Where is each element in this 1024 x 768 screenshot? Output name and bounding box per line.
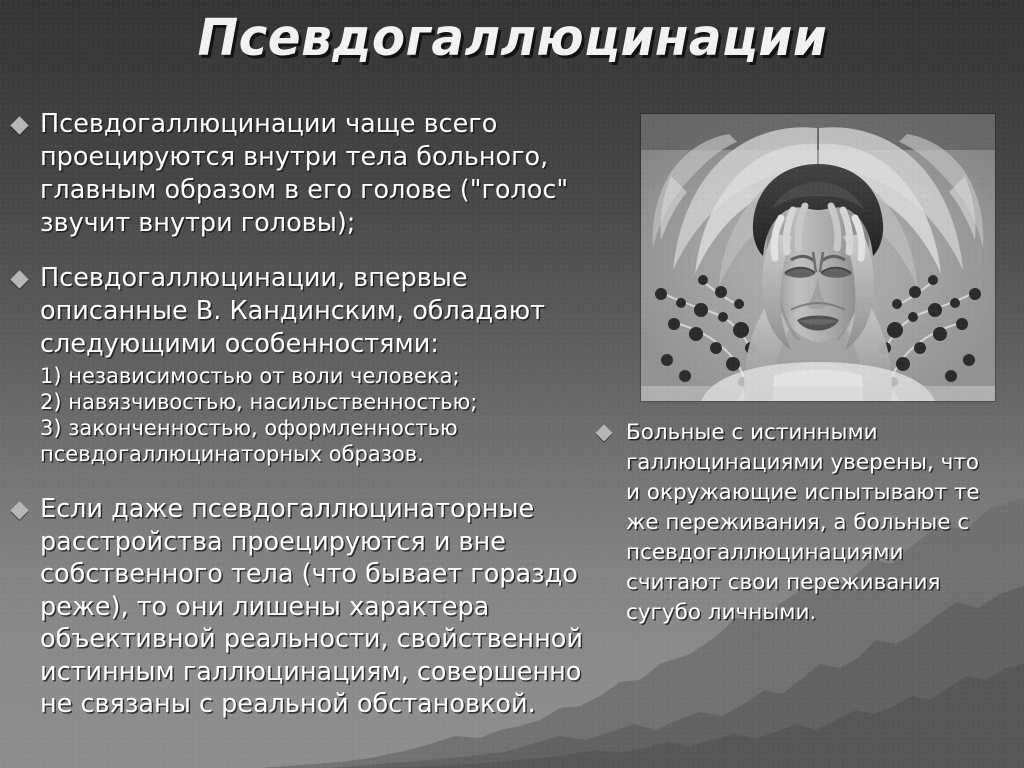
numbered-item-3: 3) законченностью, оформленностью bbox=[40, 415, 612, 441]
bullet-item-1-text: Псевдогаллюцинации чаще всего проецируют… bbox=[40, 108, 612, 240]
diamond-bullet-icon bbox=[10, 270, 28, 288]
numbered-item-2: 2) навязчивостью, насильственностью; bbox=[40, 389, 612, 415]
bullet-item-2: Псевдогаллюцинации, впервые описанные В.… bbox=[0, 262, 612, 361]
diamond-bullet-icon bbox=[10, 116, 28, 134]
diamond-bullet-icon bbox=[596, 425, 613, 442]
diamond-bullet-icon bbox=[10, 501, 28, 519]
page-title: Псевдогаллюцинации bbox=[197, 6, 827, 72]
bullet-item-3-text: Если даже псевдогаллюцинаторные расстрой… bbox=[40, 493, 612, 721]
presentation-slide: Псевдогаллюцинации Псевдогаллюцинации ча… bbox=[0, 0, 1024, 768]
bullet-item-2-text: Псевдогаллюцинации, впервые описанные В.… bbox=[40, 262, 612, 361]
left-content-column: Псевдогаллюцинации чаще всего проецируют… bbox=[0, 108, 612, 737]
right-content-column: Больные с истинными галлюцинациями увере… bbox=[592, 418, 1012, 628]
bullet-item-3: Если даже псевдогаллюцинаторные расстрой… bbox=[0, 493, 612, 721]
slide-title-bar: Псевдогаллюцинации bbox=[0, 6, 1024, 72]
illustration-distressed-man bbox=[641, 114, 995, 401]
numbered-item-1: 1) независимостью от воли человека; bbox=[40, 363, 612, 389]
illustration-graphic bbox=[641, 114, 995, 401]
bullet-item-1: Псевдогаллюцинации чаще всего проецируют… bbox=[0, 108, 612, 240]
numbered-item-4: псевдогаллюцинаторных образов. bbox=[40, 441, 612, 467]
numbered-sub-list: 1) независимостью от воли человека; 2) н… bbox=[40, 363, 612, 467]
right-column-text: Больные с истинными галлюцинациями увере… bbox=[626, 418, 986, 628]
